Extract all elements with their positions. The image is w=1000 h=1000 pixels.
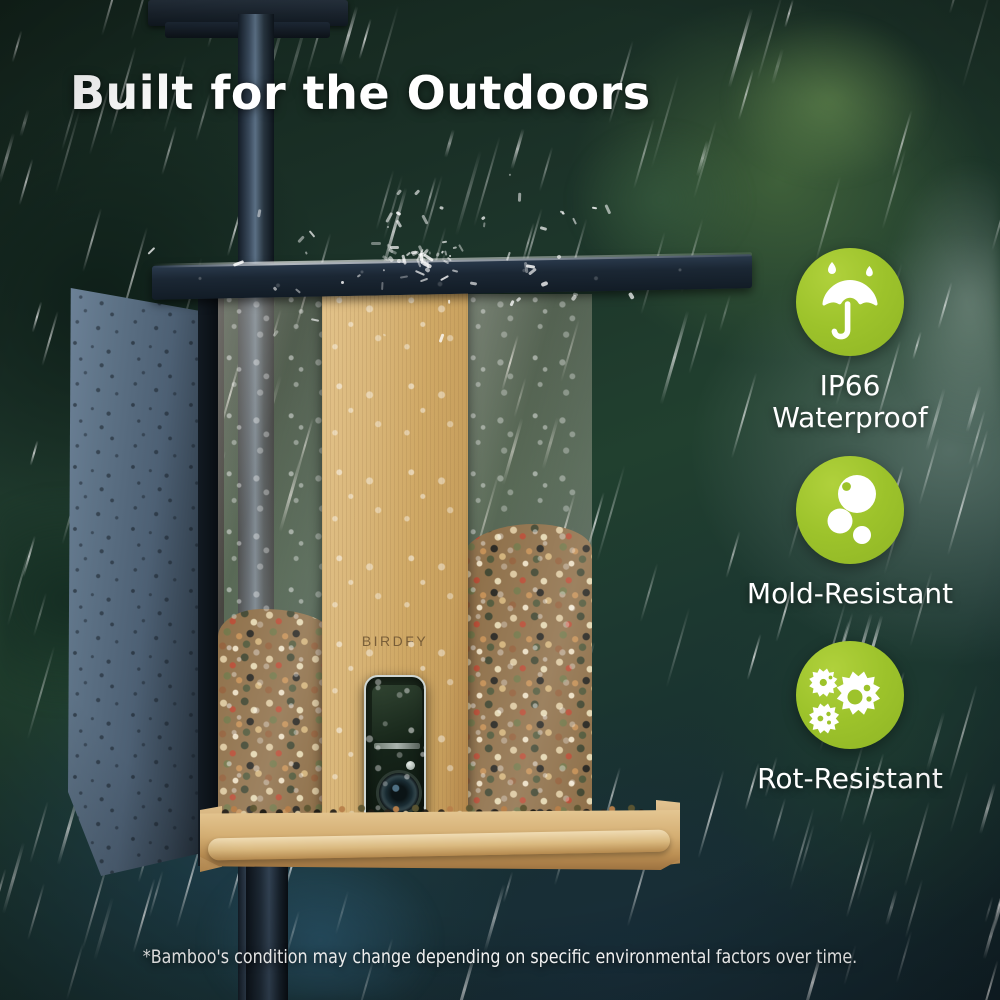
rot-resistant-badge: [796, 641, 904, 749]
feature-item-mold-resistant: Mold-Resistant: [700, 456, 1000, 610]
mold-resistant-badge: [796, 456, 904, 564]
mold-spores-icon: [796, 456, 904, 564]
waterproof-badge: [796, 248, 904, 356]
bamboo-center-panel: BIRDFY: [322, 290, 468, 830]
product-feature-banner: BIRDFY Built for the Outdoors: [0, 0, 1000, 1000]
feature-label: IP66 Waterproof: [700, 370, 1000, 434]
hopper-droplets-left: [218, 294, 328, 824]
feature-item-waterproof: IP66 Waterproof: [700, 248, 1000, 434]
rot-microbes-icon: [796, 641, 904, 749]
camera-sensor-window: [372, 685, 422, 741]
hopper-droplets-right: [462, 294, 592, 824]
page-title: Built for the Outdoors: [70, 66, 651, 120]
brand-logo-text: BIRDFY: [322, 633, 468, 649]
feature-label: Mold-Resistant: [700, 578, 1000, 610]
feeder-side-panel: [68, 276, 206, 876]
camera-trim-strip: [374, 743, 420, 749]
disclaimer-footnote: *Bamboo's condition may change depending…: [35, 946, 965, 968]
umbrella-raindrops-icon: [796, 248, 904, 356]
side-panel-water-droplets: [68, 276, 206, 876]
seed-hopper-right: [462, 294, 592, 824]
feature-item-rot-resistant: Rot-Resistant: [700, 641, 1000, 795]
bird-feeder: BIRDFY: [60, 250, 710, 890]
seed-hopper-left: [218, 294, 328, 824]
feature-list: IP66 Waterproof Mold-Resistant: [700, 248, 1000, 809]
camera-led-indicator: [406, 761, 415, 770]
feature-label: Rot-Resistant: [700, 763, 1000, 795]
